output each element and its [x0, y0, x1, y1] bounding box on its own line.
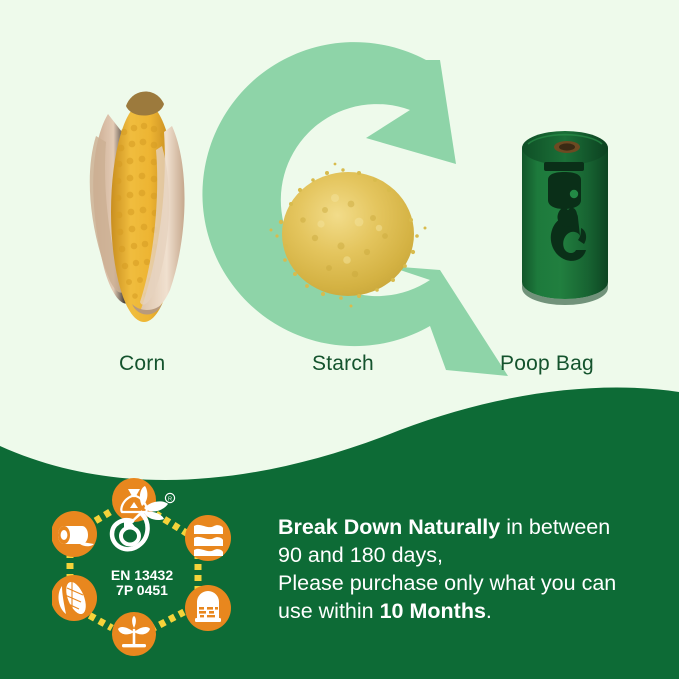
message-line-4-bold: 10 Months — [380, 599, 486, 623]
cert-standard-line-2: 7P 0451 — [116, 582, 168, 598]
message-line-2: 90 and 180 days, — [278, 541, 658, 569]
message-line-1-bold: Break Down Naturally — [278, 515, 500, 539]
message-line-1-rest: in between — [500, 515, 610, 539]
stage-label-starch: Starch — [312, 352, 374, 376]
process-flow-panel: Corn Starch Poop Bag — [0, 0, 679, 470]
soil-layers-icon — [185, 515, 231, 561]
message-line-1: Break Down Naturally in between — [278, 513, 658, 541]
product-infographic: Corn Starch Poop Bag — [0, 0, 679, 679]
seedling-sprout-icon — [112, 612, 156, 656]
cert-standard-line-1: EN 13432 — [111, 567, 173, 583]
message-line-4: use within 10 Months. — [278, 597, 658, 625]
svg-text:R: R — [168, 497, 172, 503]
poop-bag-roll-photo — [518, 122, 612, 312]
bag-roll-icon — [52, 511, 97, 557]
message-line-4-prefix: use within — [278, 599, 380, 623]
starch-powder-photo — [255, 160, 445, 310]
breakdown-message: Break Down Naturally in between 90 and 1… — [278, 513, 658, 625]
certification-badge: R EN 13432 7P 0451 — [52, 476, 252, 656]
message-line-4-suffix: . — [486, 599, 492, 623]
corn-cob-photo — [74, 62, 204, 324]
message-line-3: Please purchase only what you can — [278, 569, 658, 597]
compost-bin-icon — [185, 585, 231, 631]
stage-label-poop-bag: Poop Bag — [500, 352, 594, 376]
stage-label-corn: Corn — [119, 352, 165, 376]
corn-cob-icon — [52, 575, 97, 621]
